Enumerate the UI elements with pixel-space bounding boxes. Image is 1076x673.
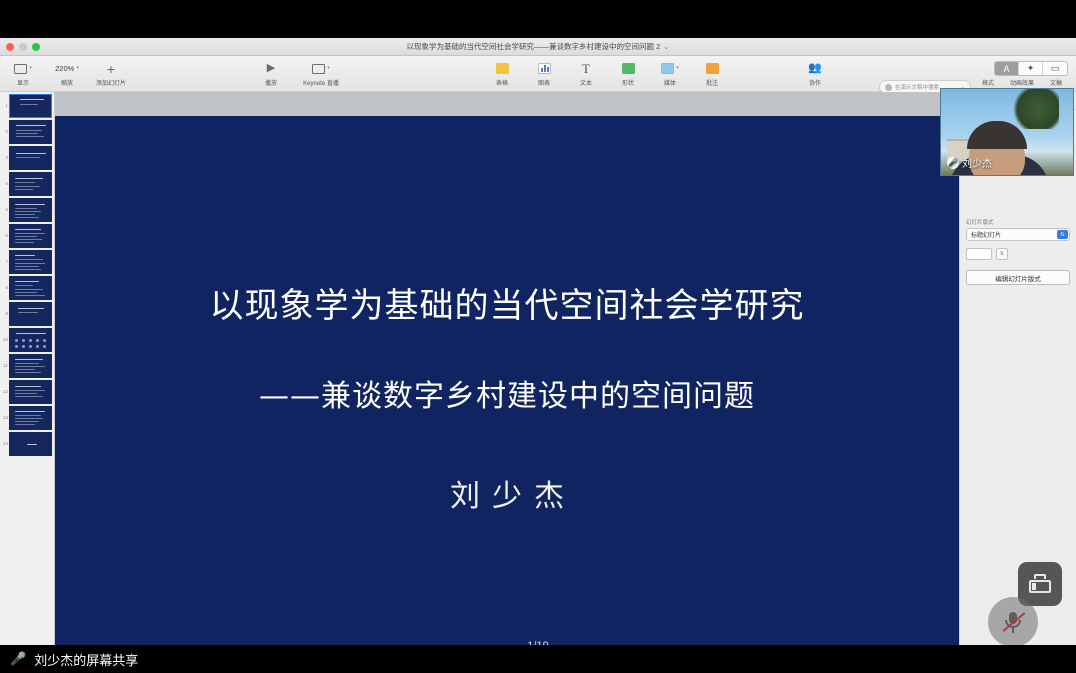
insert-text-label: 文本 <box>580 78 592 87</box>
thumbnail-diagram-node <box>22 345 25 348</box>
slide-canvas-area: 以现象学为基础的当代空间社会学研究 ——兼谈数字乡村建设中的空间问题 刘少杰 <box>55 92 959 645</box>
thumbnail-text-line <box>15 242 34 243</box>
thumbnail-diagram-node <box>36 345 39 348</box>
keynote-toolbar: ▾ 显示 220%▾ 缩放 + 添加幻灯片 ▶ 播放 ▾ <box>0 56 1076 92</box>
zoom-value: 220% <box>55 65 74 73</box>
thumbnail-text-line <box>15 233 45 234</box>
thumbnail-text-line <box>15 285 33 286</box>
slide-thumbnail[interactable] <box>9 302 52 326</box>
video-foliage <box>1013 88 1059 129</box>
slide-thumbnail-number: 5 <box>1 198 8 212</box>
layout-select-value: 标题幻灯片 <box>971 230 1001 239</box>
slide-thumbnail[interactable] <box>9 250 52 274</box>
zoom-button[interactable]: 220%▾ 缩放 <box>52 61 82 87</box>
slide-thumbnail-number: 13 <box>1 406 8 420</box>
collaborate-label: 协作 <box>809 78 821 87</box>
thumbnail-text-line <box>16 153 46 154</box>
thumbnail-text-line <box>15 214 35 215</box>
thumbnail-text-line <box>15 369 35 370</box>
slide-thumbnail[interactable] <box>9 354 52 378</box>
slide-thumbnail-item[interactable]: 7 <box>0 248 54 274</box>
thumbnail-text-line <box>15 396 43 397</box>
slide-thumbnail[interactable] <box>9 172 52 196</box>
thumbnail-text-line <box>15 189 33 190</box>
edit-layout-section: 编辑幻灯片版式 <box>966 270 1070 285</box>
insert-table-button[interactable]: 表格 <box>487 61 517 87</box>
layout-select-section: 幻灯片版式 标题幻灯片 ⇅ <box>966 218 1070 241</box>
tab-format[interactable]: A <box>995 62 1019 75</box>
insert-comment-label: 批注 <box>706 78 718 87</box>
thumbnail-text-line <box>15 239 42 240</box>
keynote-live-button[interactable]: ▾ Keynote 直播 <box>300 61 342 87</box>
thumbnail-text-line <box>15 372 41 373</box>
thumbnail-text-line <box>15 418 43 419</box>
slide-thumbnail[interactable] <box>9 224 52 248</box>
layout-select-label: 幻灯片版式 <box>966 218 1070 226</box>
number-field-section: ⇅ <box>966 248 1070 260</box>
slide-thumbnail[interactable] <box>9 94 52 118</box>
thumbnail-text-line <box>15 390 45 391</box>
share-status-bar: 🎤 刘少杰的屏幕共享 <box>0 645 1076 673</box>
thumbnail-text-line <box>18 308 44 309</box>
plus-icon: + <box>107 61 115 76</box>
participant-video-tile[interactable]: 🎤 刘少杰 <box>940 88 1074 176</box>
insert-table-label: 表格 <box>496 78 508 87</box>
slide-thumbnail-item[interactable]: 13 <box>0 404 54 430</box>
slide-thumbnail[interactable] <box>9 406 52 430</box>
thumbnail-text-line <box>20 99 44 100</box>
thumbnail-text-line <box>15 415 41 416</box>
chart-icon <box>538 61 551 76</box>
slide-canvas[interactable]: 以现象学为基础的当代空间社会学研究 ——兼谈数字乡村建设中的空间问题 刘少杰 <box>55 116 959 645</box>
slide-thumbnail-item[interactable]: 8 <box>0 274 54 300</box>
insert-media-label: 媒体 <box>664 78 676 87</box>
thumbnail-text-line <box>15 421 39 422</box>
thumbnail-text-line <box>15 217 39 218</box>
toolbar-group-left: ▾ 显示 220%▾ 缩放 + 添加幻灯片 <box>8 61 126 87</box>
thumbnail-text-line <box>15 208 37 209</box>
slide-thumbnail[interactable] <box>9 146 52 170</box>
insert-text-button[interactable]: T 文本 <box>571 61 601 87</box>
slide-thumbnail-number: 12 <box>1 380 8 394</box>
slide-thumbnail-number: 2 <box>1 120 8 134</box>
table-icon <box>496 61 509 76</box>
slide-thumbnail-number: 4 <box>1 172 8 186</box>
thumbnail-text-line <box>27 444 37 445</box>
thumbnail-text-line <box>15 295 45 296</box>
keynote-live-icon: ▾ <box>312 61 330 76</box>
play-button[interactable]: ▶ 播放 <box>256 61 286 87</box>
slide-title-text[interactable]: 以现象学为基础的当代空间社会学研究 <box>55 278 959 327</box>
view-button-label: 显示 <box>17 78 29 87</box>
annotation-toolbar-icon <box>1029 574 1051 594</box>
inspector-tab-labels: 格式 动画效果 文稿 <box>976 78 1068 87</box>
editor-body: 1234567891011121314 以现象学为基础的当代空间社会学研究 ——… <box>0 92 1076 645</box>
screen-share-root: 以现象学为基础的当代空间社会学研究——兼谈数字乡村建设中的空间问题 2⌄ ▾ 显… <box>0 0 1076 673</box>
window-title: 以现象学为基础的当代空间社会学研究——兼谈数字乡村建设中的空间问题 2⌄ <box>0 41 1076 52</box>
thumbnail-text-line <box>18 312 38 313</box>
thumbnail-text-line <box>15 424 35 425</box>
share-status-label: 刘少杰的屏幕共享 <box>34 650 138 669</box>
thumbnail-text-line <box>15 236 37 237</box>
thumbnail-text-line <box>15 386 41 387</box>
thumbnail-text-line <box>15 366 45 367</box>
thumbnail-text-line <box>15 186 40 187</box>
add-slide-button[interactable]: + 添加幻灯片 <box>96 61 126 87</box>
insert-chart-label: 图表 <box>538 78 550 87</box>
thumbnail-text-line <box>16 333 46 334</box>
thumbnail-text-line <box>15 269 41 270</box>
tab-animate-label: 动画效果 <box>1010 78 1034 87</box>
shape-icon <box>622 61 635 76</box>
tab-document-label: 文稿 <box>1044 78 1068 87</box>
thumbnail-diagram-node <box>29 339 32 342</box>
slide-thumbnail-number: 1 <box>1 94 8 108</box>
thumbnail-diagram-node <box>43 339 46 342</box>
thumbnail-text-line <box>20 104 38 105</box>
window-titlebar: 以现象学为基础的当代空间社会学研究——兼谈数字乡村建设中的空间问题 2⌄ <box>0 38 1076 56</box>
slide-thumbnail[interactable] <box>9 328 52 352</box>
chevron-updown-icon[interactable]: ⇅ <box>1057 230 1068 239</box>
slide-thumbnail-item[interactable]: 1 <box>0 92 54 118</box>
stepper-icon[interactable]: ⇅ <box>996 248 1008 260</box>
inspector-tab-group[interactable]: A ✦ ▭ <box>994 61 1068 76</box>
collaborate-button[interactable]: 👥 协作 <box>800 61 830 87</box>
thumbnail-text-line <box>16 133 38 134</box>
slide-thumbnail-item[interactable]: 5 <box>0 196 54 222</box>
slide-thumbnail-number: 3 <box>1 146 8 160</box>
thumbnail-text-line <box>16 130 42 131</box>
slide-thumbnail[interactable] <box>9 198 52 222</box>
thumbnail-text-line <box>15 359 43 360</box>
slide-thumbnail[interactable] <box>9 120 52 144</box>
thumbnail-text-line <box>15 266 39 267</box>
microphone-muted-icon <box>1002 610 1024 634</box>
slide-thumbnail-number: 7 <box>1 250 8 264</box>
thumbnail-text-line <box>15 182 35 183</box>
slide-thumbnail[interactable] <box>9 432 52 456</box>
insert-shape-button[interactable]: 形状 <box>613 61 643 87</box>
slide-author-text[interactable]: 刘少杰 <box>55 471 959 515</box>
slide-thumbnail-item[interactable]: 9 <box>0 300 54 326</box>
thumbnail-text-line <box>15 259 43 260</box>
slide-thumbnail-number: 10 <box>1 328 8 342</box>
tab-animate[interactable]: ✦ <box>1019 62 1043 75</box>
slide-thumbnail-item[interactable]: 4 <box>0 170 54 196</box>
slide-subtitle-text[interactable]: ——兼谈数字乡村建设中的空间问题 <box>55 371 959 415</box>
toolbar-group-play: ▶ 播放 ▾ Keynote 直播 <box>256 61 342 87</box>
thumbnail-text-line <box>15 229 41 230</box>
text-icon: T <box>582 61 590 76</box>
thumbnail-diagram-node <box>36 339 39 342</box>
thumbnail-text-line <box>15 292 37 293</box>
insert-shape-label: 形状 <box>622 78 634 87</box>
thumbnail-text-line <box>16 125 46 126</box>
mute-toggle-button[interactable] <box>988 597 1038 647</box>
participant-name: 刘少杰 <box>962 155 992 170</box>
thumbnail-text-line <box>15 289 43 290</box>
slide-thumbnail-item[interactable]: 12 <box>0 378 54 404</box>
zoom-button-label: 缩放 <box>61 78 73 87</box>
insert-comment-button[interactable]: 批注 <box>697 61 727 87</box>
thumbnail-text-line <box>15 263 45 264</box>
thumbnail-text-line <box>15 204 45 205</box>
thumbnail-text-line <box>15 393 37 394</box>
thumbnail-diagram-node <box>29 345 32 348</box>
slide-thumbnail-item[interactable]: 11 <box>0 352 54 378</box>
chevron-down-icon[interactable]: ⌄ <box>663 42 669 51</box>
slide-thumbnail[interactable] <box>9 380 52 404</box>
slide-thumbnail-item[interactable]: 14 <box>0 430 54 456</box>
shared-keynote-window: 以现象学为基础的当代空间社会学研究——兼谈数字乡村建设中的空间问题 2⌄ ▾ 显… <box>0 38 1076 645</box>
view-panel-icon: ▾ <box>14 61 32 76</box>
thumbnail-text-line <box>15 255 35 256</box>
slide-thumbnail[interactable] <box>9 276 52 300</box>
comment-icon <box>706 61 719 76</box>
window-title-text: 以现象学为基础的当代空间社会学研究——兼谈数字乡村建设中的空间问题 2 <box>406 42 660 51</box>
thumbnail-diagram-node <box>43 345 46 348</box>
media-icon: ▾ <box>661 61 679 76</box>
play-button-label: 播放 <box>265 78 277 87</box>
slide-thumbnail-number: 9 <box>1 302 8 316</box>
thumbnail-text-line <box>15 211 41 212</box>
thumbnail-text-line <box>15 178 43 179</box>
thumbnail-text-line <box>15 411 45 412</box>
user-avatar-icon <box>885 84 892 91</box>
tab-document[interactable]: ▭ <box>1043 62 1067 75</box>
slide-thumbnail-number: 8 <box>1 276 8 290</box>
thumbnail-diagram-node <box>15 339 18 342</box>
toolbar-group-collaborate: 👥 协作 <box>800 61 830 87</box>
keynote-live-label: Keynote 直播 <box>303 78 339 87</box>
edit-slide-layout-button[interactable]: 编辑幻灯片版式 <box>966 270 1070 285</box>
microphone-icon: 🎤 <box>10 651 26 667</box>
zoom-level-icon: 220%▾ <box>55 61 79 76</box>
slide-number-field[interactable] <box>966 248 992 260</box>
collaborate-icon: 👥 <box>808 61 822 76</box>
participant-name-badge: 🎤 刘少杰 <box>947 155 992 170</box>
slide-thumbnail-number: 6 <box>1 224 8 238</box>
slide-thumbnail-number: 14 <box>1 432 8 446</box>
slide-thumbnail-item[interactable]: 10 <box>0 326 54 352</box>
slide-thumbnail-item[interactable]: 2 <box>0 118 54 144</box>
microphone-icon: 🎤 <box>947 157 959 169</box>
thumbnail-text-line <box>16 136 44 137</box>
thumbnail-diagram-node <box>15 345 18 348</box>
insert-media-button[interactable]: ▾ 媒体 <box>655 61 685 87</box>
insert-chart-button[interactable]: 图表 <box>529 61 559 87</box>
thumbnail-text-line <box>16 157 40 158</box>
play-icon: ▶ <box>267 61 275 76</box>
add-slide-label: 添加幻灯片 <box>96 78 126 87</box>
view-button[interactable]: ▾ 显示 <box>8 61 38 87</box>
thumbnail-text-line <box>15 281 39 282</box>
toolbar-group-insert: 表格 图表 T 文本 形状 ▾ 媒体 <box>487 61 727 87</box>
slide-thumbnail-item[interactable]: 6 <box>0 222 54 248</box>
top-black-strip <box>0 0 1076 38</box>
thumbnail-diagram-node <box>22 339 25 342</box>
slide-thumbnail-number: 11 <box>1 354 8 368</box>
slide-navigator[interactable]: 1234567891011121314 <box>0 92 55 645</box>
tab-format-label: 格式 <box>976 78 1000 87</box>
thumbnail-text-line <box>15 363 39 364</box>
slide-thumbnail-item[interactable]: 3 <box>0 144 54 170</box>
layout-select[interactable]: 标题幻灯片 ⇅ <box>966 228 1070 241</box>
